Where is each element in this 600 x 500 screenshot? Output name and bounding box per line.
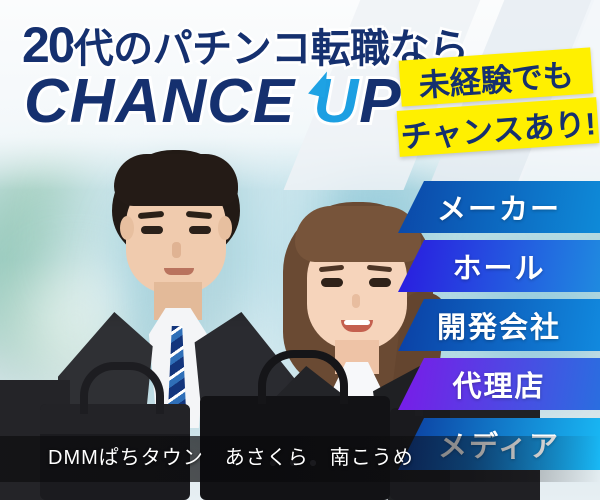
man-eye-left	[141, 226, 163, 234]
woman-nose	[352, 294, 360, 308]
man-ear-left	[120, 216, 134, 240]
headline-chance-word: CHANCE	[24, 67, 295, 136]
ribbon-developer[interactable]: 開発会社	[398, 299, 600, 351]
man-eye-right	[189, 226, 211, 234]
ribbon-hall[interactable]: ホール	[398, 240, 600, 292]
man-mouth	[164, 268, 194, 275]
man-nose	[172, 242, 181, 258]
woman-eye-right	[369, 278, 391, 287]
headline-line-2: CHANCE UP	[24, 66, 402, 137]
ribbon-agency[interactable]: 代理店	[398, 358, 600, 410]
badge-line-1: 未経験でも	[399, 47, 594, 106]
woman-teeth	[344, 320, 370, 325]
man-ear-right	[218, 216, 232, 240]
ad-banner[interactable]: 20代のパチンコ転職なら CHANCE UP 未経験でも チャンスあり! メーカ…	[0, 0, 600, 500]
ribbon-maker[interactable]: メーカー	[398, 181, 600, 233]
badge-no-experience: 未経験でも チャンスあり!	[398, 52, 598, 156]
briefcase-handle-left	[80, 362, 164, 414]
category-ribbon-list: メーカー ホール 開発会社 代理店 メディア	[398, 181, 600, 473]
woman-eye-left	[321, 278, 343, 287]
headline-up-p: P	[359, 67, 401, 136]
badge-line-2: チャンスあり!	[397, 97, 600, 157]
headline-number: 20	[22, 17, 74, 73]
briefcase-handle-center	[258, 350, 348, 404]
caption-credits: DMMぱちタウン あさくら 南こうめ	[48, 441, 414, 470]
